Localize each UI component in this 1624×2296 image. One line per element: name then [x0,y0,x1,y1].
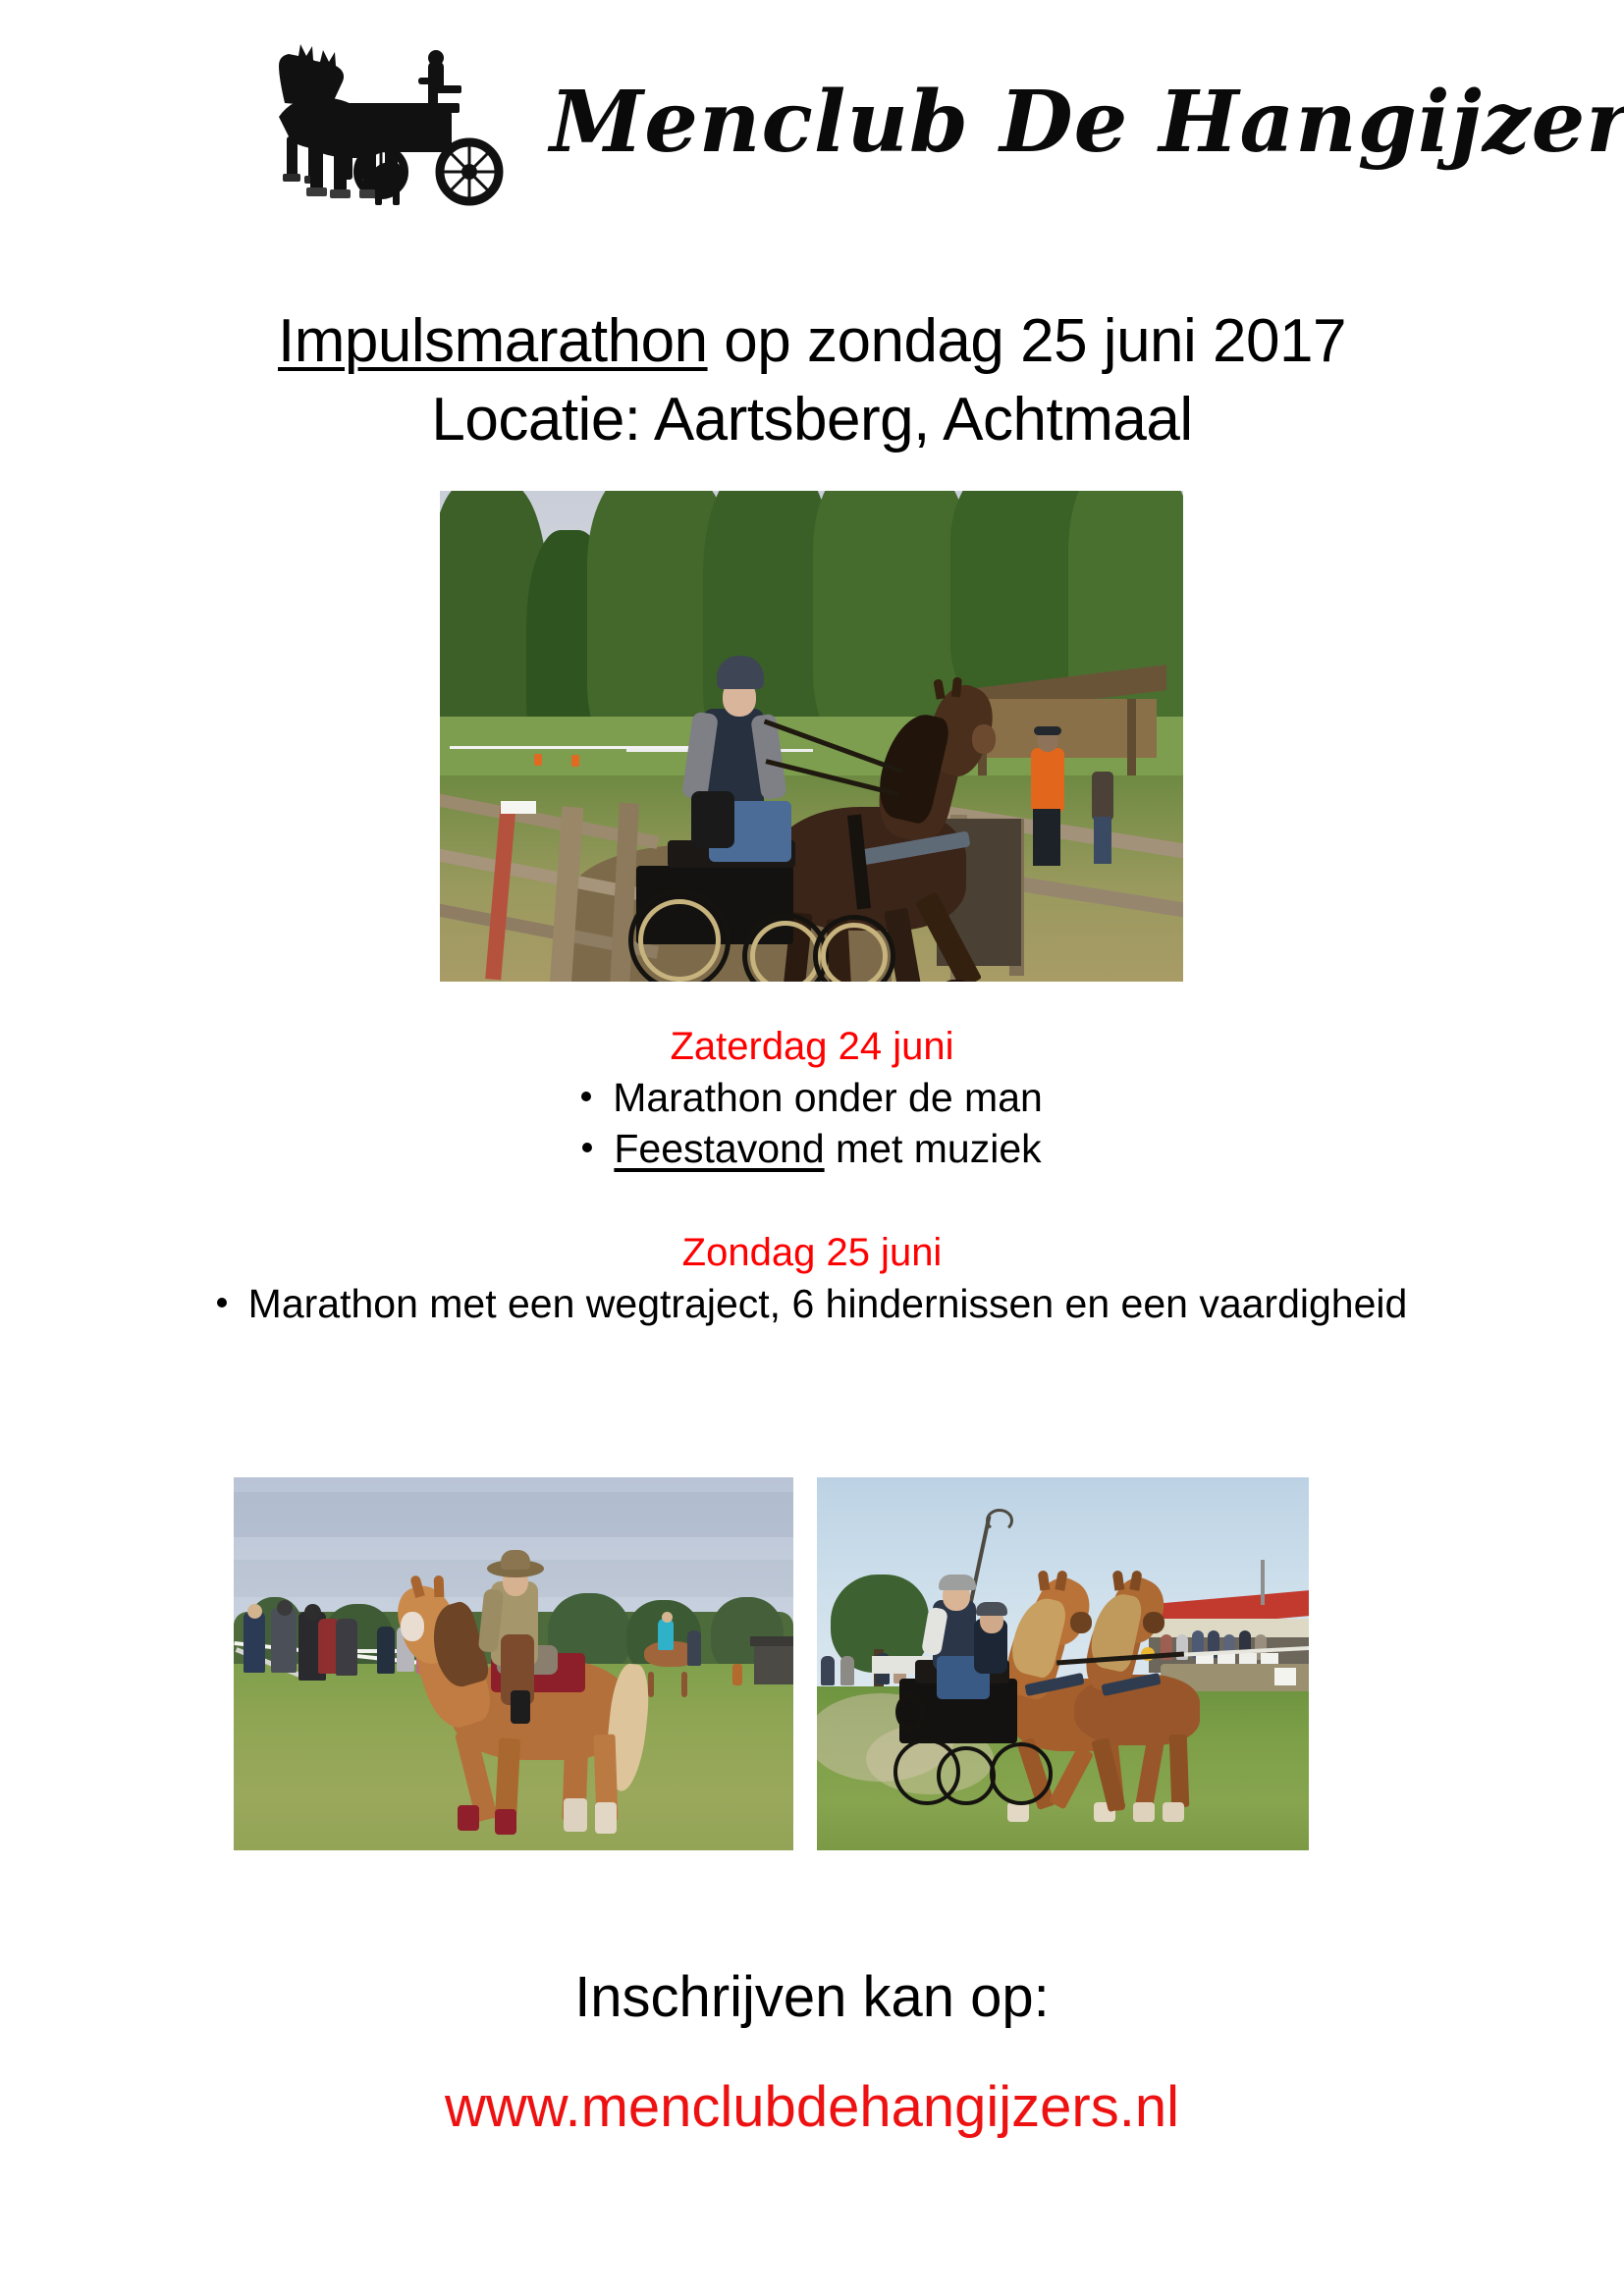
club-name: Menclub De Hangijzers [550,59,1414,187]
poster-header: Menclub De Hangijzers [0,0,1624,255]
poster-title-block: Impulsmarathon op zondag 25 juni 2017 Lo… [0,302,1624,459]
footer-block: Inschrijven kan op: [0,1961,1624,2034]
club-website-link[interactable]: www.menclubdehangijzers.nl [445,2075,1179,2139]
bullet-icon [581,1092,591,1101]
photo-right-scene [817,1477,1309,1850]
list-item-text: Marathon onder de man [613,1075,1043,1120]
bullet-icon [217,1298,227,1308]
list-item: Marathon met een wegtraject, 6 hindernis… [0,1278,1624,1329]
footer-url-block: www.menclubdehangijzers.nl [0,2071,1624,2144]
list-item-emphasis: Feestavond [614,1126,824,1171]
title-line-2: Locatie: Aartsberg, Achtmaal [0,381,1624,459]
day-label-saturday: Zaterdag 24 juni [0,1021,1624,1072]
schedule-sunday: Zondag 25 juni Marathon met een wegtraje… [0,1227,1624,1329]
title-date: op zondag 25 juni 2017 [708,307,1346,375]
horse-carriage-logo-icon [236,34,530,216]
bullet-icon [582,1143,592,1152]
title-line-1: Impulsmarathon op zondag 25 juni 2017 [0,302,1624,381]
title-event-name: Impulsmarathon [278,307,708,375]
photo-left-scene [234,1477,793,1850]
list-item-text: Marathon met een wegtraject, 6 hindernis… [248,1281,1408,1326]
signup-cta-text: Inschrijven kan op: [0,1961,1624,2034]
list-item-text: met muziek [825,1126,1042,1171]
photo-ridden-horse [234,1477,793,1850]
saturday-item-list: Marathon onder de man Feestavond met muz… [0,1072,1624,1174]
day-label-sunday: Zondag 25 juni [0,1227,1624,1278]
schedule-saturday: Zaterdag 24 juni Marathon onder de man F… [0,1021,1624,1174]
photo-pair-carriage [817,1477,1309,1850]
photo-main-scene [440,491,1183,982]
photo-marathon-obstacle [440,491,1183,982]
sunday-item-list: Marathon met een wegtraject, 6 hindernis… [0,1278,1624,1329]
list-item: Marathon onder de man [0,1072,1624,1123]
list-item: Feestavond met muziek [0,1123,1624,1174]
